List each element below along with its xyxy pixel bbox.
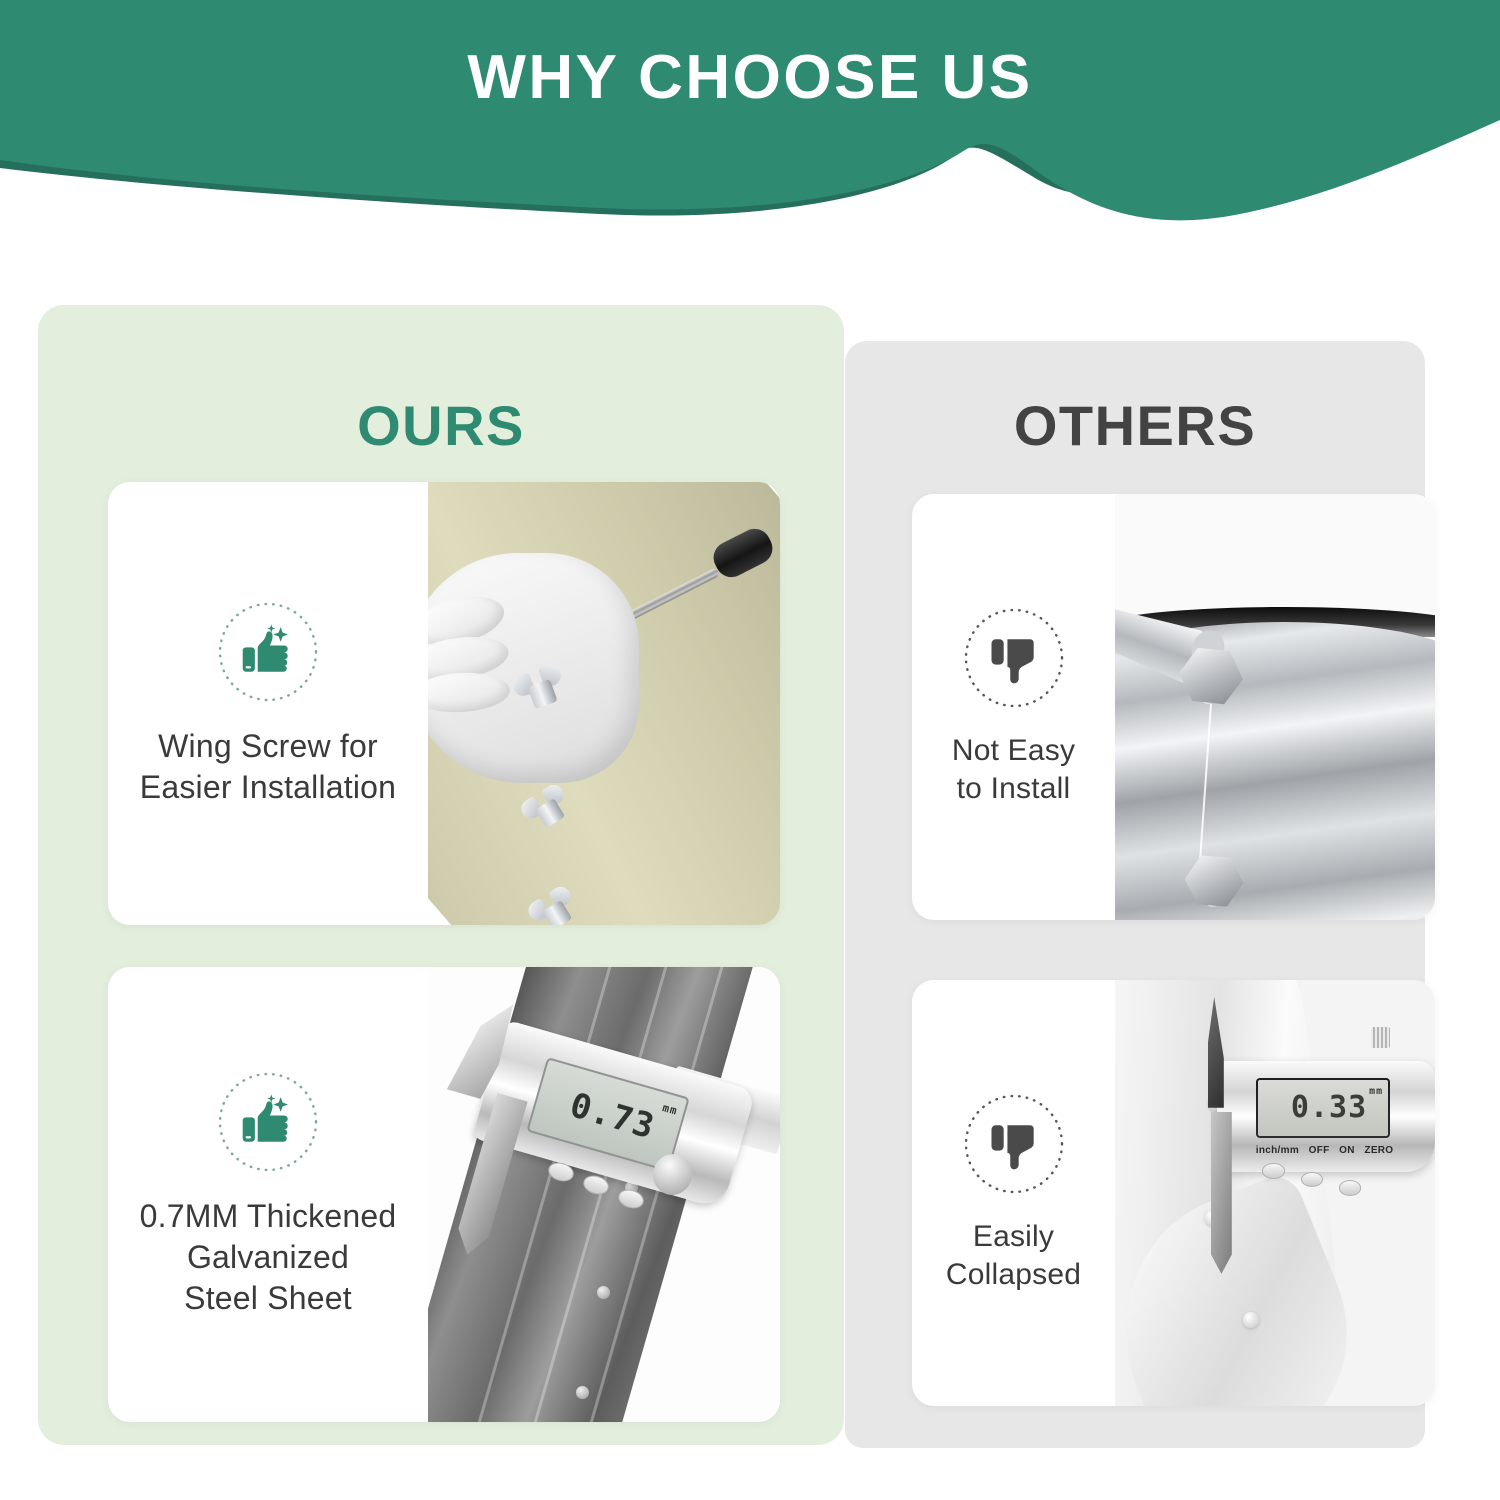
thumbs-down-glyph xyxy=(984,628,1044,688)
thumbs-up-sparkle-icon xyxy=(216,600,320,704)
caliper-steel-panel-photo: 0.73 mm xyxy=(428,967,780,1422)
others-card-1-photo xyxy=(1115,494,1435,920)
others-card-not-easy-install[interactable]: Not Easy to Install xyxy=(912,494,1435,920)
others-card-1-text-area: Not Easy to Install xyxy=(912,494,1115,920)
wrench-bolt-metal-photo xyxy=(1115,494,1435,920)
ours-card-2-label: 0.7MM Thickened Galvanized Steel Sheet xyxy=(134,1196,403,1319)
page-header: WHY CHOOSE US xyxy=(0,0,1500,225)
thumbs-up-glyph xyxy=(238,1092,298,1152)
caliper-label-inchmm: inch/mm xyxy=(1256,1145,1299,1156)
ours-card-wing-screw[interactable]: Wing Screw for Easier Installation xyxy=(108,482,780,925)
others-card-2-text-area: Easily Collapsed xyxy=(912,980,1115,1406)
ours-card-2-text-area: 0.7MM Thickened Galvanized Steel Sheet xyxy=(108,967,428,1422)
caliper-white-panel-photo: 0.33 mm inch/mm OFF ON ZERO xyxy=(1115,980,1435,1406)
others-column-heading: OTHERS xyxy=(845,393,1425,458)
others-card-2-photo: 0.33 mm inch/mm OFF ON ZERO xyxy=(1115,980,1435,1406)
others-card-1-label: Not Easy to Install xyxy=(946,732,1081,809)
thumbs-up-glyph xyxy=(238,622,298,682)
caliper-reading-unit: mm xyxy=(661,1101,679,1118)
caliper-label-zero: ZERO xyxy=(1364,1145,1393,1156)
ours-column-heading: OURS xyxy=(38,393,844,458)
caliper-reading-unit: mm xyxy=(1369,1086,1383,1097)
thumbs-down-glyph xyxy=(984,1114,1044,1174)
thumbs-down-icon xyxy=(962,606,1066,710)
caliper-display: 0.33 mm xyxy=(1256,1078,1390,1138)
caliper-label-off: OFF xyxy=(1309,1145,1330,1156)
gloved-hand-wing-screw-photo xyxy=(428,482,780,925)
thumbs-down-icon xyxy=(962,1092,1066,1196)
caliper-label-on: ON xyxy=(1339,1145,1355,1156)
others-card-easily-collapsed[interactable]: Easily Collapsed 0.33 mm xyxy=(912,980,1435,1406)
thumbs-up-sparkle-icon xyxy=(216,1070,320,1174)
others-card-2-label: Easily Collapsed xyxy=(940,1218,1087,1295)
caliper-reading-value: 0.73 xyxy=(565,1085,659,1147)
ours-card-1-text-area: Wing Screw for Easier Installation xyxy=(108,482,428,925)
ours-card-1-photo xyxy=(428,482,780,925)
ours-card-2-photo: 0.73 mm xyxy=(428,967,780,1422)
caliper-reading-value: 0.33 xyxy=(1291,1090,1367,1125)
ours-card-steel-thickness[interactable]: 0.7MM Thickened Galvanized Steel Sheet 0… xyxy=(108,967,780,1422)
page-title: WHY CHOOSE US xyxy=(0,42,1500,113)
caliper-button-labels: inch/mm OFF ON ZERO xyxy=(1256,1140,1394,1161)
ours-card-1-label: Wing Screw for Easier Installation xyxy=(134,726,402,808)
comparison-infographic: WHY CHOOSE US OURS Wing Screw for Easier… xyxy=(0,0,1500,1500)
